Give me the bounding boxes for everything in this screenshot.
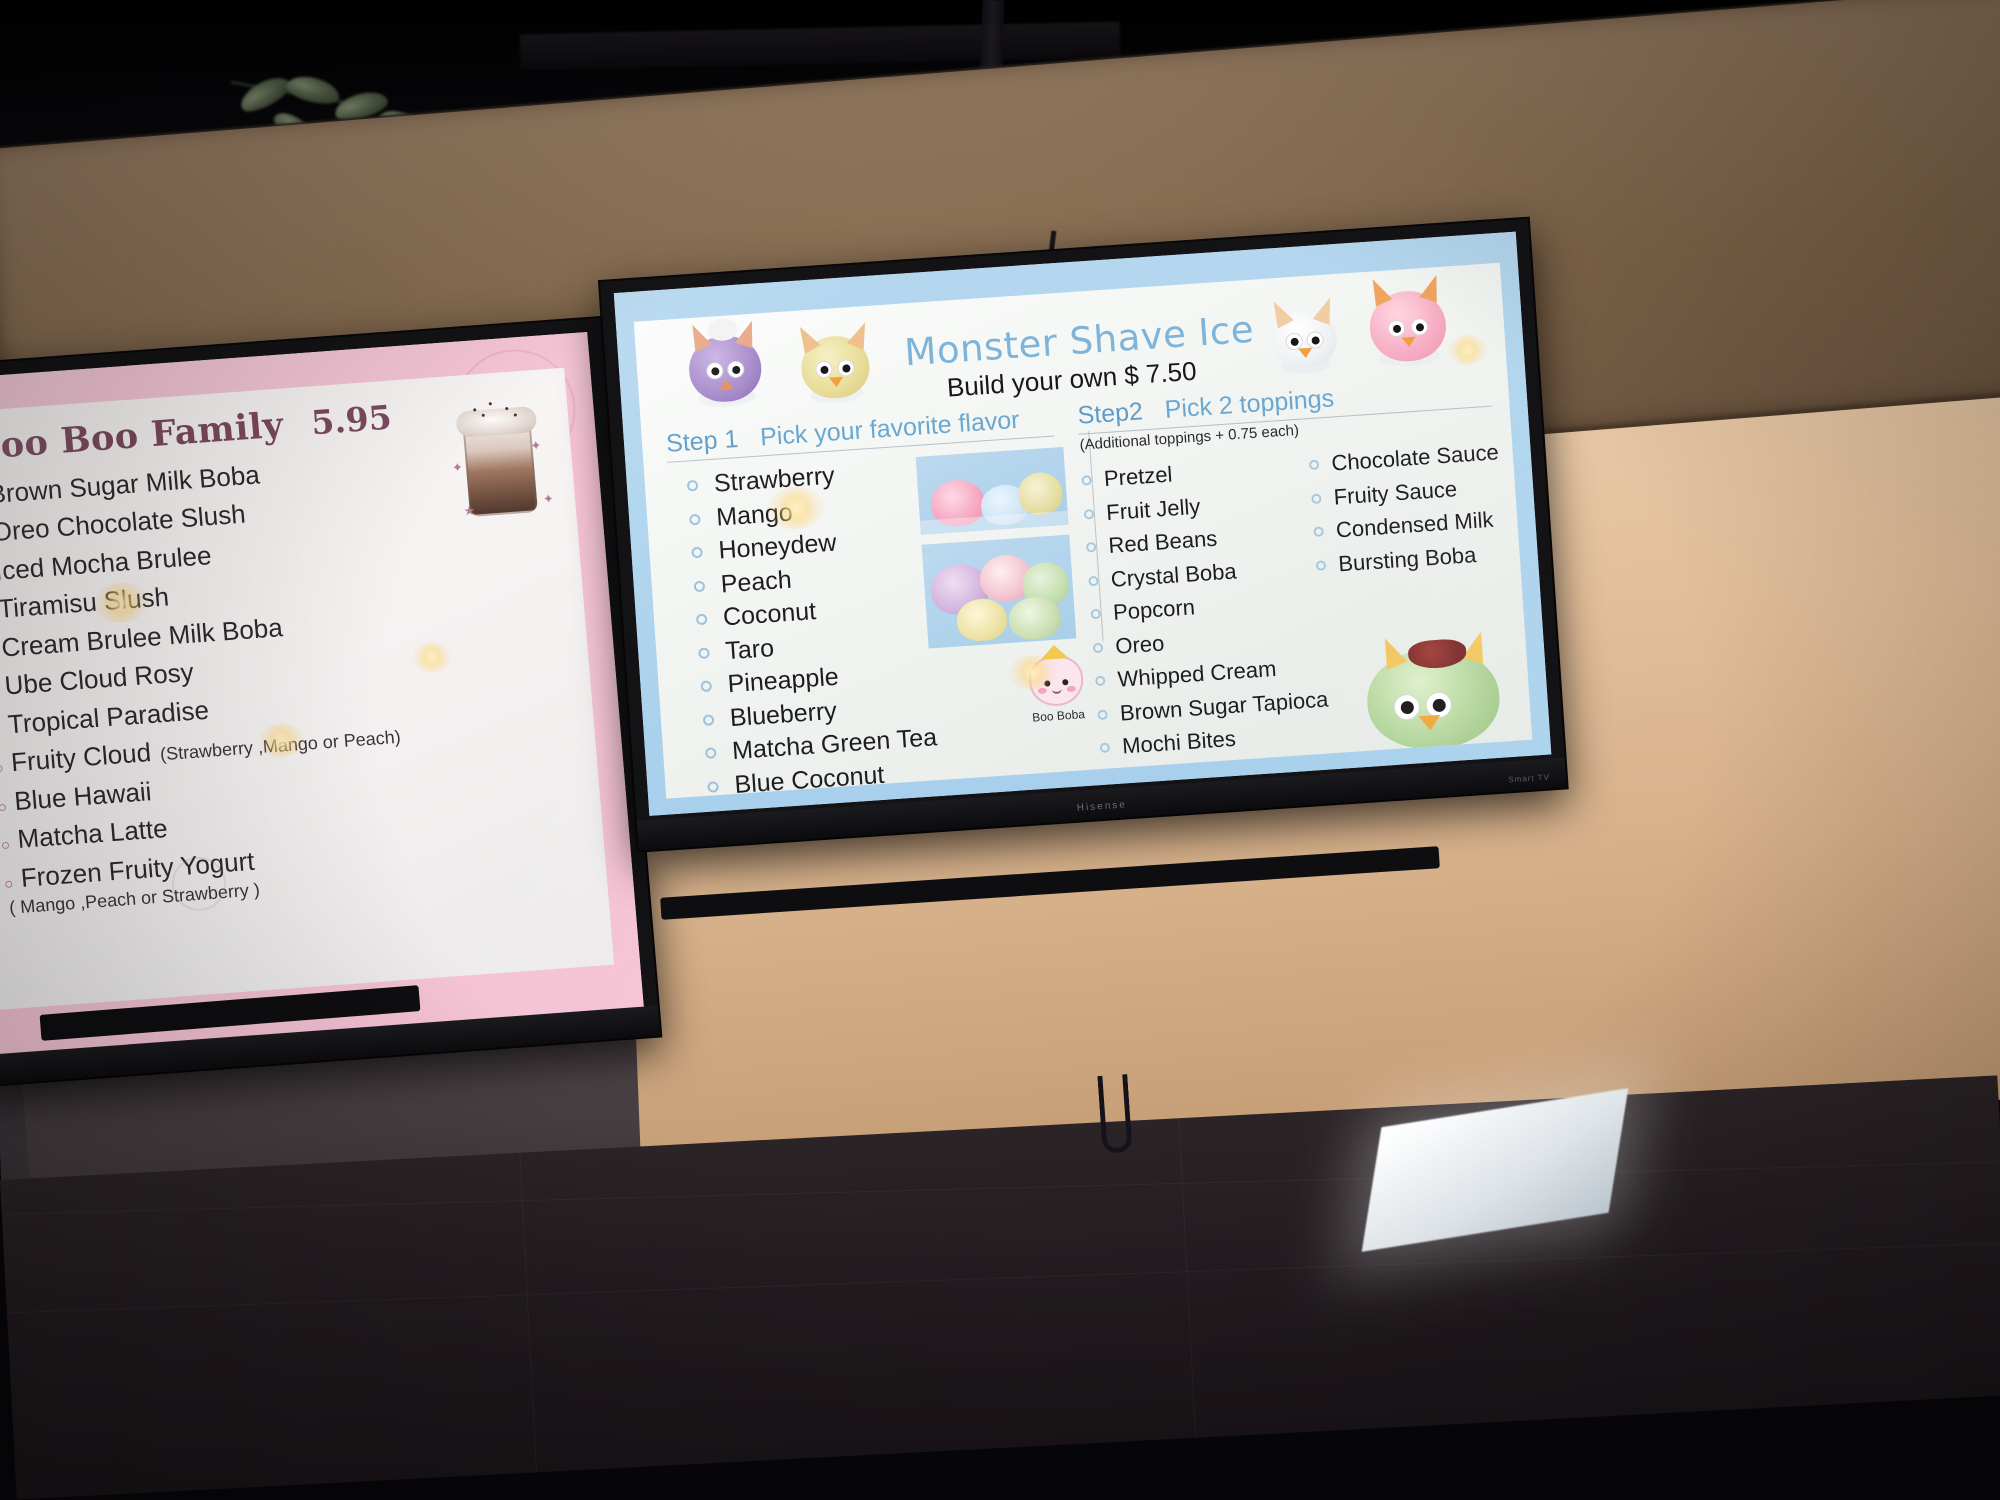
right-board-inner: Monster Shave Ice Build your own $ 7.50 [634,263,1533,799]
bullet-icon [1100,742,1111,753]
tv-brand-label: Smart TV [1508,773,1550,785]
topping-label: Condensed Milk [1335,507,1494,544]
topping-label: Whipped Cream [1117,656,1277,693]
shave-ice-photo-bottom [922,535,1077,649]
bullet-icon [707,781,719,793]
boba-cup-illustration: ✦ ✦ ★ ✦ [451,395,553,521]
flavor-label: Blueberry [729,698,837,730]
left-board-inner: Boo Boo Family 5.95 ✦ ✦ ★ [0,368,614,1010]
flavor-label: Coconut [722,599,817,630]
topping-item[interactable]: Fruity Sauce [1311,473,1502,512]
topping-item[interactable]: Popcorn [1090,587,1301,627]
bullet-icon [0,765,3,772]
restaurant-scene: Boo Boo Family 5.95 ✦ ✦ ★ [0,0,2000,1500]
menu-screen-right: Monster Shave Ice Build your own $ 7.50 [614,232,1552,816]
bullet-icon [5,880,13,887]
steps-row: Step 1 Pick your favorite flavor Strawbe… [657,373,1519,798]
bullet-icon [691,547,703,559]
step1-column: Step 1 Pick your favorite flavor Strawbe… [657,403,1082,798]
topping-item[interactable]: Mochi Bites [1099,721,1310,761]
bullet-icon [700,680,712,692]
mascot-face [1028,654,1085,708]
topping-item[interactable]: Red Beans [1086,520,1297,560]
topping-item[interactable]: Fruit Jelly [1083,487,1294,527]
monster-shave-ice-board: Monster Shave Ice Build your own $ 7.50 [614,232,1552,816]
flavor-label: Honeydew [718,531,838,564]
bullet-icon [2,842,10,849]
flavor-label: Pineapple [727,665,840,698]
flavor-label: Taro [725,636,775,664]
toppings-column-1[interactable]: PretzelFruit JellyRed BeansCrystal BobaP… [1081,453,1311,768]
menu-screen-left: Boo Boo Family 5.95 ✦ ✦ ★ [0,332,645,1069]
topping-label: Crystal Boba [1110,558,1237,593]
topping-label: Red Beans [1108,526,1218,559]
topping-label: Fruity Sauce [1333,476,1458,510]
menu-tv-left[interactable]: Boo Boo Family 5.95 ✦ ✦ ★ [0,318,660,1086]
flavor-label: Strawberry [713,464,835,497]
menu-tv-right[interactable]: Monster Shave Ice Build your own $ 7.50 [600,219,1567,851]
monster-purple [687,333,763,404]
topping-label: Bursting Boba [1337,542,1477,577]
boo-boba-mascot: Boo Boba [1010,653,1104,726]
topping-label: Oreo [1115,630,1166,659]
topping-item[interactable]: Crystal Boba [1088,554,1299,594]
monster-mango [799,334,871,400]
left-board-price: 5.95 [310,398,393,443]
topping-label: Pretzel [1103,462,1173,493]
bullet-icon [687,480,699,492]
topping-item[interactable]: Oreo [1093,621,1304,661]
step2-column: Step2 Pick 2 toppings (Additional toppin… [1057,373,1519,782]
step1-label: Step 1 [665,425,739,459]
bullet-icon [1091,609,1102,620]
bullet-icon [689,513,701,525]
monster-matcha-photo [1355,629,1513,759]
shave-ice-photo-top [916,447,1069,535]
bullet-icon [1084,508,1095,519]
bullet-icon [1309,459,1320,470]
flavor-label: Matcha Green Tea [731,725,937,764]
topping-item[interactable]: Brown Sugar Tapioca [1097,687,1308,727]
flavor-label: Peach [720,567,792,597]
bullet-icon [694,580,706,592]
topping-item[interactable]: Bursting Boba [1315,540,1506,579]
bullet-icon [1311,493,1322,504]
boo-boo-family-board: Boo Boo Family 5.95 ✦ ✦ ★ [0,332,645,1069]
topping-label: Mochi Bites [1121,726,1236,760]
topping-label: Fruit Jelly [1105,493,1201,525]
topping-label: Brown Sugar Tapioca [1119,686,1329,726]
bullet-icon [1086,542,1097,553]
bullet-icon [1093,642,1104,653]
topping-item[interactable]: Whipped Cream [1095,654,1306,694]
bullet-icon [703,714,715,726]
topping-item[interactable]: Pretzel [1081,453,1292,493]
tv-brand-logo: Hisense [1076,799,1127,813]
monster-strawberry [1368,289,1449,364]
topping-label: Chocolate Sauce [1331,439,1500,476]
bullet-icon [698,647,710,659]
monster-coconut [1271,308,1339,370]
crown-icon [1040,644,1069,660]
bullet-icon [1316,560,1327,571]
bullet-icon [0,804,6,811]
flavor-label: Blue Coconut [734,762,885,797]
topping-label: Popcorn [1112,594,1196,626]
bullet-icon [705,747,717,759]
bullet-icon [1314,526,1325,537]
tv-cable-loop [1097,1074,1132,1154]
bullet-icon [696,614,708,626]
step2-label: Step2 [1077,397,1144,430]
title-block: Monster Shave Ice Build your own $ 7.50 [903,309,1237,406]
flavor-label: Mango [715,500,793,530]
bullet-icon [1082,475,1093,486]
topping-item[interactable]: Condensed Milk [1313,506,1504,545]
bullet-icon [1089,575,1100,586]
topping-item[interactable]: Chocolate Sauce [1309,439,1500,478]
